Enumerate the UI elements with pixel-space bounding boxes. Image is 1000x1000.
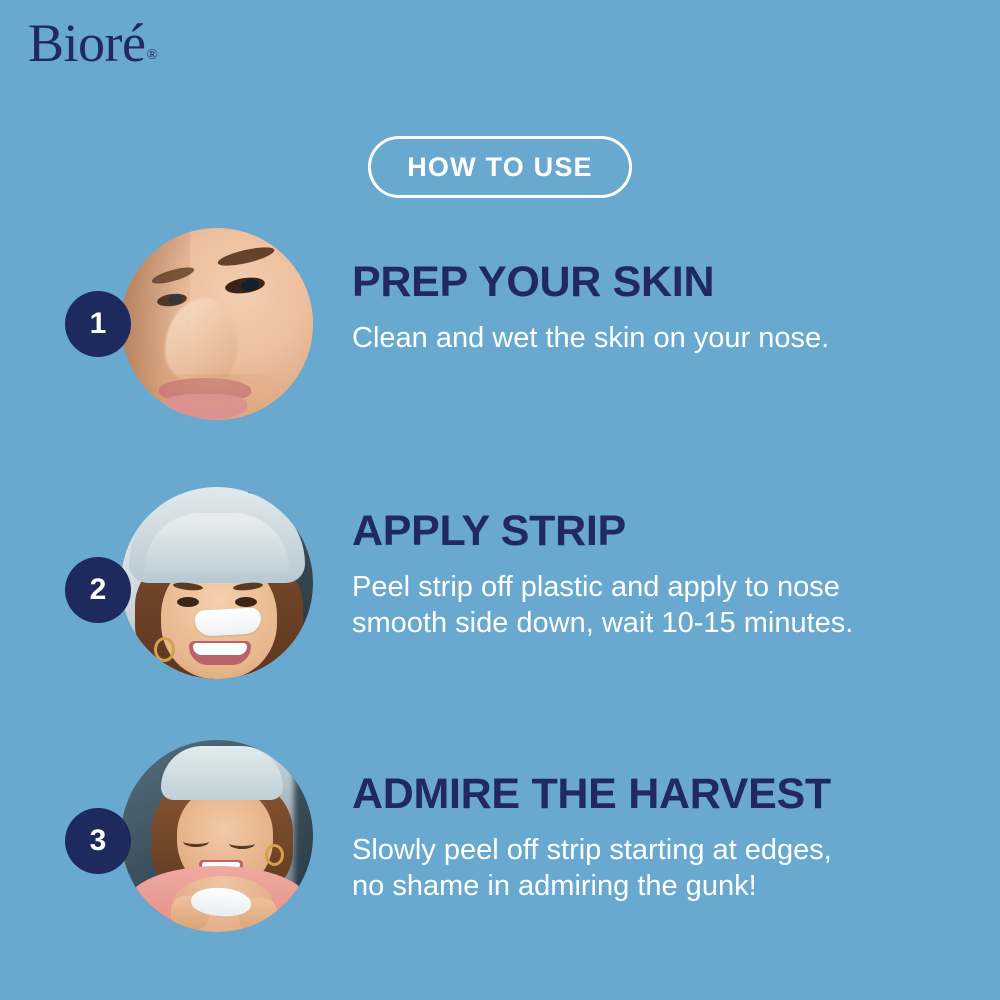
how-to-use-badge: HOW TO USE — [368, 136, 632, 198]
hoop-earring-icon — [265, 844, 284, 866]
step-photo — [121, 487, 313, 679]
photo-illustration-prep-skin — [121, 228, 313, 420]
step-body-line: no shame in admiring the gunk! — [352, 868, 922, 905]
step-heading: ADMIRE THE HARVEST — [352, 772, 922, 818]
eye-icon — [177, 597, 199, 607]
registered-trademark-icon: ® — [146, 47, 157, 63]
step-text-column: PREP YOUR SKIN Clean and wet the skin on… — [352, 260, 922, 356]
step-number-badge: 3 — [65, 808, 131, 874]
smiling-mouth — [189, 641, 251, 665]
photo-illustration-admire-harvest — [121, 740, 313, 932]
how-to-use-label: HOW TO USE — [407, 152, 593, 183]
step-photo — [121, 740, 313, 932]
eye-icon — [235, 597, 257, 607]
step-body: Peel strip off plastic and apply to nose… — [352, 569, 922, 642]
brand-logo: Bioré® — [28, 16, 156, 70]
step-body: Clean and wet the skin on your nose. — [352, 320, 922, 357]
step-heading: APPLY STRIP — [352, 509, 922, 555]
chin-shading — [141, 374, 291, 420]
step-heading: PREP YOUR SKIN — [352, 260, 922, 306]
step-body-line: Peel strip off plastic and apply to nose — [352, 569, 922, 606]
step-number-badge: 1 — [65, 291, 131, 357]
step-body-line: Clean and wet the skin on your nose. — [352, 320, 922, 357]
step-body: Slowly peel off strip starting at edges,… — [352, 832, 922, 905]
nose-strip — [194, 607, 261, 636]
spa-headband — [161, 746, 283, 800]
step-body-line: Slowly peel off strip starting at edges, — [352, 832, 922, 869]
step-text-column: ADMIRE THE HARVEST Slowly peel off strip… — [352, 772, 922, 905]
step-photo — [121, 228, 313, 420]
photo-illustration-apply-strip — [121, 487, 313, 679]
step-text-column: APPLY STRIP Peel strip off plastic and a… — [352, 509, 922, 642]
step-body-line: smooth side down, wait 10-15 minutes. — [352, 605, 922, 642]
brand-name: Bioré — [28, 13, 145, 73]
teeth — [193, 643, 247, 655]
closed-eye-icon — [229, 838, 255, 849]
hoop-earring-icon — [154, 637, 175, 662]
closed-eye-icon — [183, 836, 209, 847]
step-number-badge: 2 — [65, 557, 131, 623]
